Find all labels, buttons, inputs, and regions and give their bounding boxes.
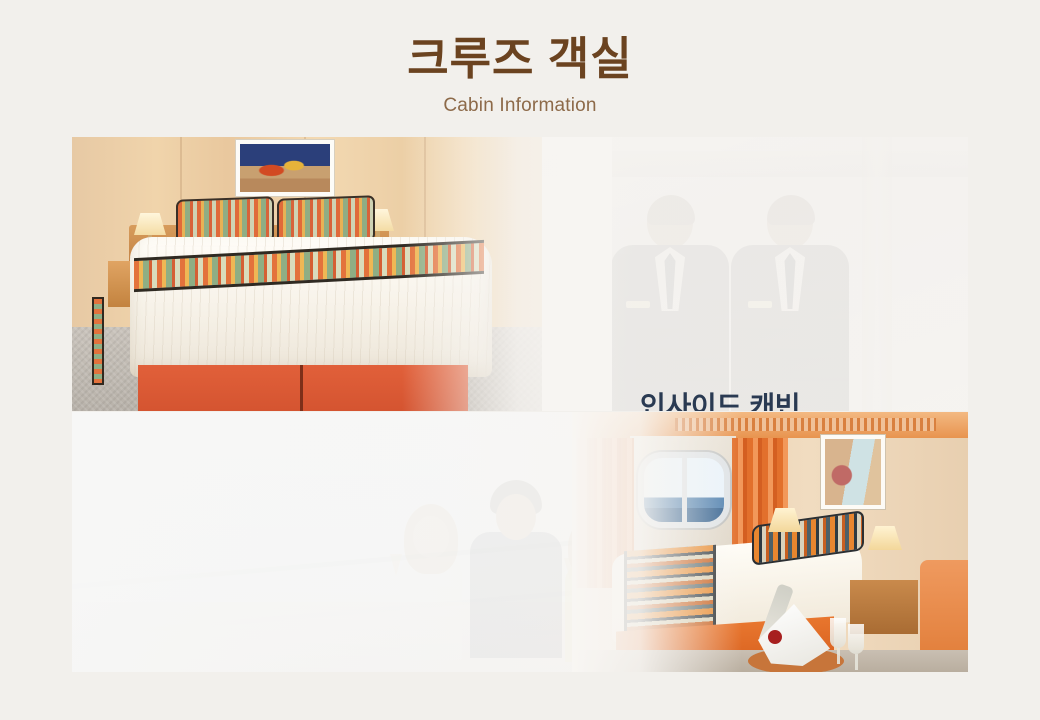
oceanview-cabin-photo (572, 412, 968, 672)
champagne-glass (848, 624, 864, 670)
lamp-shade (134, 213, 166, 235)
inside-cabin-text-block: 인사이드 캐빈 크루즈선의 안쪽에 위치하여 창문은 없지만, 요금이 저렴하기… (640, 385, 968, 411)
page-title: 크루즈 객실 (0, 34, 1040, 84)
cabin-information-page: 크루즈 객실 Cabin Information (0, 0, 1040, 720)
inside-cabin-section: 인사이드 캐빈 크루즈선의 안쪽에 위치하여 창문은 없지만, 요금이 저렴하기… (72, 137, 968, 411)
page-header: 크루즈 객실 Cabin Information (0, 34, 1040, 117)
lamp-shade (768, 508, 802, 532)
wall-artwork (235, 139, 335, 197)
rose (768, 630, 782, 644)
oceanview-cabin-section: 오션뷰 캐빈 폐쇄형 창문이 있어서 객실로 따뜻한 채광이 들어오고 바다를 … (72, 412, 968, 672)
bedside-lamp-right (868, 526, 902, 550)
inside-cabin-heading: 인사이드 캐빈 (640, 385, 968, 411)
wall-artwork (820, 434, 886, 510)
photo-blend-seam (572, 412, 742, 672)
bed-side-throw (92, 297, 104, 385)
champagne-glass (830, 618, 846, 664)
lamp-shade (868, 526, 902, 550)
bedside-lamp-left (768, 508, 802, 532)
glass-bowl (848, 624, 864, 654)
glass-bowl (830, 618, 846, 648)
glass-stem (837, 648, 840, 664)
photo-blend-seam (402, 137, 612, 411)
page-subtitle: Cabin Information (0, 95, 1040, 117)
glass-stem (855, 654, 858, 670)
